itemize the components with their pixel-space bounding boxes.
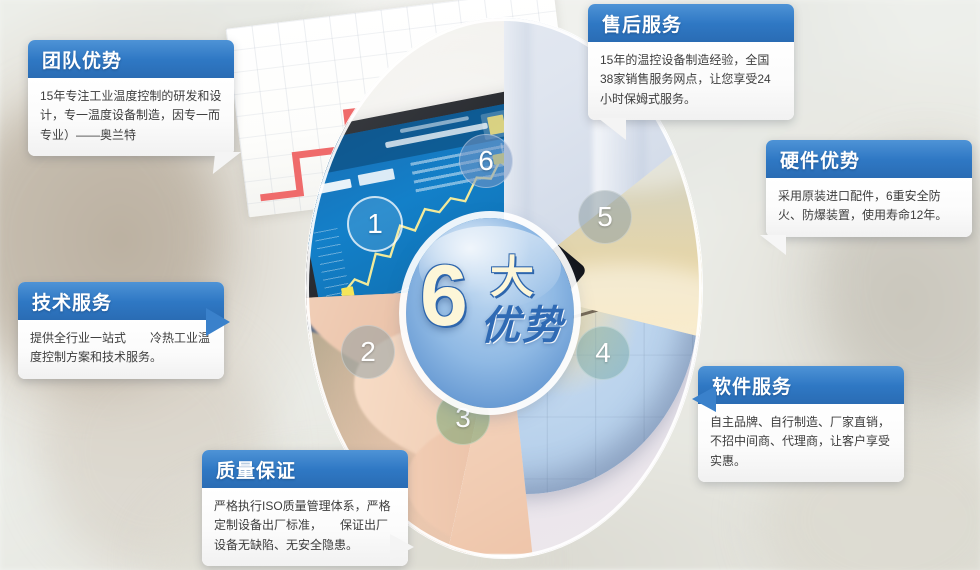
- segment-number-4[interactable]: 4: [576, 326, 630, 380]
- center-word: 优势: [480, 306, 564, 346]
- segment-number-label: 1: [367, 210, 383, 238]
- callout-title: 软件服务: [698, 366, 904, 404]
- callout-title: 质量保证: [202, 450, 408, 488]
- center-unit: 大: [490, 256, 534, 300]
- callout-body: 采用原装进口配件，6重安全防火、防爆装置，使用寿命12年。: [766, 178, 972, 237]
- callout-software-service[interactable]: 软件服务 自主品牌、自行制造、厂家直销，不招中间商、代理商，让客户享受实惠。: [698, 366, 904, 482]
- callout-quality-assurance[interactable]: 质量保证 严格执行ISO质量管理体系，严格定制设备出厂标准， 保证出厂设备无缺陷…: [202, 450, 408, 566]
- callout-title: 售后服务: [588, 4, 794, 42]
- segment-number-6[interactable]: 6: [459, 134, 513, 188]
- segment-number-label: 6: [478, 147, 494, 175]
- segment-number-5[interactable]: 5: [578, 190, 632, 244]
- callout-tail: [206, 308, 230, 336]
- callout-body: 15年专注工业温度控制的研发和设计，专一温度设备制造，因专一而专业）——奥兰特: [28, 78, 234, 156]
- segment-number-label: 4: [595, 339, 611, 367]
- callout-body: 自主品牌、自行制造、厂家直销，不招中间商、代理商，让客户享受实惠。: [698, 404, 904, 482]
- callout-tail: [213, 152, 241, 174]
- callout-technical-service[interactable]: 技术服务 提供全行业一站式 冷热工业温度控制方案和技术服务。: [18, 282, 224, 379]
- callout-title: 团队优势: [28, 40, 234, 78]
- callout-body: 提供全行业一站式 冷热工业温度控制方案和技术服务。: [18, 320, 224, 379]
- callout-body: 15年的温控设备制造经验，全国38家销售服务网点，让您享受24小时保姆式服务。: [588, 42, 794, 120]
- callout-title: 技术服务: [18, 282, 224, 320]
- callout-after-sales[interactable]: 售后服务 15年的温控设备制造经验，全国38家销售服务网点，让您享受24小时保姆…: [588, 4, 794, 120]
- callout-hardware-advantage[interactable]: 硬件优势 采用原装进口配件，6重安全防火、防爆装置，使用寿命12年。: [766, 140, 972, 237]
- center-number: 6: [420, 260, 468, 333]
- callout-tail: [598, 118, 626, 140]
- callout-tail: [760, 235, 786, 255]
- callout-title: 硬件优势: [766, 140, 972, 178]
- center-badge[interactable]: 6 大 优势: [406, 218, 574, 408]
- callout-team-advantage[interactable]: 团队优势 15年专注工业温度控制的研发和设计，专一温度设备制造，因专一而专业）—…: [28, 40, 234, 156]
- segment-number-label: 3: [455, 404, 471, 432]
- callout-tail: [390, 534, 414, 560]
- segment-number-2[interactable]: 2: [341, 325, 395, 379]
- infographic-stage: 1 2 3 4 5 6 6 大 优势 团队优势 15年专注工业温度控制的研发和设…: [0, 0, 980, 570]
- callout-tail: [692, 386, 716, 412]
- segment-number-1[interactable]: 1: [347, 196, 403, 252]
- segment-number-label: 2: [360, 338, 376, 366]
- segment-number-label: 5: [597, 203, 613, 231]
- callout-body: 严格执行ISO质量管理体系，严格定制设备出厂标准， 保证出厂设备无缺陷、无安全隐…: [202, 488, 408, 566]
